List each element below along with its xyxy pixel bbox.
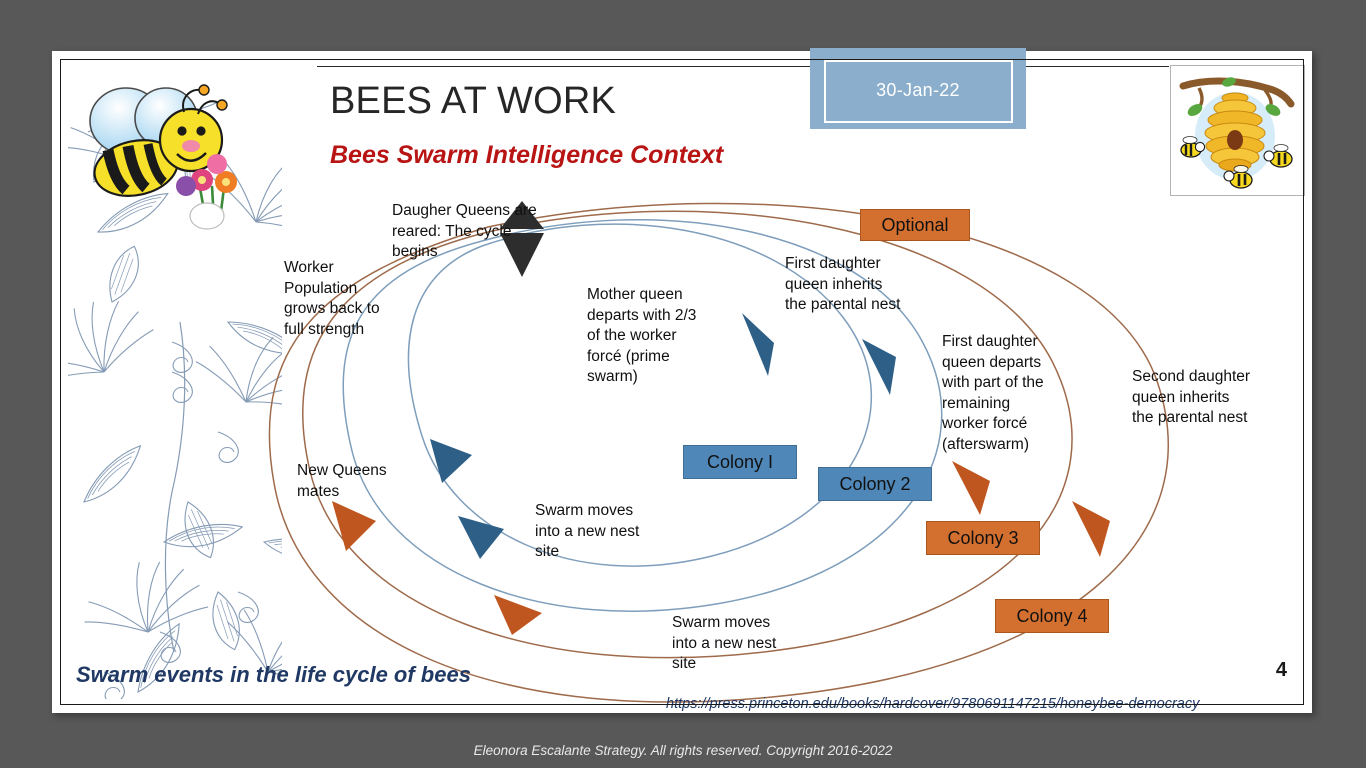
arrowhead-orange-2 bbox=[494, 595, 542, 635]
callout-mother-queen-departs: Mother queen departs with 2/3 of the wor… bbox=[587, 285, 727, 388]
source-url-link[interactable]: https://press.princeton.edu/books/hardco… bbox=[666, 696, 1199, 712]
arrowhead-blue-1 bbox=[742, 313, 774, 376]
chip-colony-3: Colony 3 bbox=[926, 521, 1040, 555]
callout-first-daughter-inherits: First daughter queen inherits the parent… bbox=[785, 254, 935, 316]
bee-mascot-icon bbox=[74, 76, 264, 246]
callout-new-queens-mates: New Queens mates bbox=[297, 461, 417, 502]
callout-swarm-moves-lower: Swarm moves into a new nest site bbox=[672, 613, 802, 675]
slide-viewer: BEES AT WORK Bees Swarm Intelligence Con… bbox=[0, 0, 1366, 768]
beehive-icon bbox=[1169, 64, 1306, 197]
arrowhead-orange-3 bbox=[952, 461, 990, 515]
left-decorative-strip bbox=[68, 72, 282, 699]
page-number: 4 bbox=[1276, 659, 1287, 682]
chip-optional: Optional bbox=[860, 209, 970, 241]
chip-colony-1: Colony I bbox=[683, 445, 797, 479]
callout-daughter-queens-reared: Daugher Queens are reared: The cycle beg… bbox=[392, 201, 567, 263]
date-text: 30-Jan-22 bbox=[810, 80, 1026, 101]
arrowhead-blue-3 bbox=[430, 439, 472, 483]
arrowhead-blue-4 bbox=[458, 516, 504, 559]
chip-colony-2: Colony 2 bbox=[818, 467, 932, 501]
callout-worker-population: Worker Population grows back to full str… bbox=[284, 258, 409, 340]
presentation-slide: BEES AT WORK Bees Swarm Intelligence Con… bbox=[52, 51, 1312, 713]
copyright-footer: Eleonora Escalante Strategy. All rights … bbox=[0, 732, 1366, 768]
bottom-caption: Swarm events in the life cycle of bees bbox=[76, 662, 471, 688]
callout-swarm-moves-upper: Swarm moves into a new nest site bbox=[535, 501, 665, 563]
chip-colony-4: Colony 4 bbox=[995, 599, 1109, 633]
arrowhead-orange-4 bbox=[1072, 501, 1110, 557]
arrowhead-orange-1 bbox=[332, 501, 376, 551]
arrowhead-blue-2 bbox=[862, 339, 896, 395]
date-badge: 30-Jan-22 bbox=[810, 48, 1026, 129]
page-subtitle: Bees Swarm Intelligence Context bbox=[330, 141, 723, 170]
callout-first-daughter-departs: First daughter queen departs with part o… bbox=[942, 332, 1077, 456]
header-divider bbox=[317, 66, 1301, 67]
page-title: BEES AT WORK bbox=[330, 80, 616, 123]
callout-second-daughter-inherits: Second daughter queen inherits the paren… bbox=[1132, 367, 1292, 429]
